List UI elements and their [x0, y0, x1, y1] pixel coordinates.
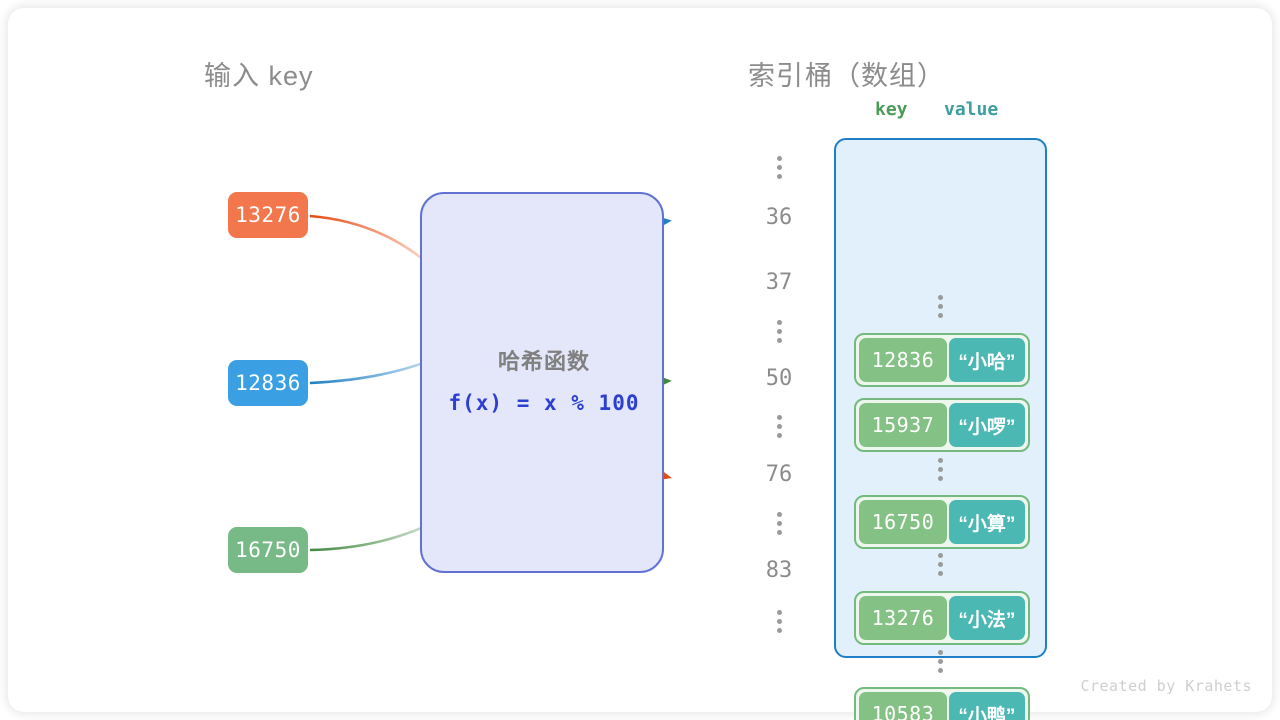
- bucket-ellipsis: [937, 650, 945, 673]
- column-header-key: key: [875, 99, 908, 120]
- bucket-ellipsis: [937, 295, 945, 318]
- bucket-entry-key: 10583: [859, 692, 947, 720]
- index-ellipsis: [775, 610, 783, 633]
- bucket-entry-value: “小啰”: [949, 403, 1025, 447]
- bucket-entry-key: 13276: [859, 596, 947, 640]
- index-ellipsis: [775, 320, 783, 343]
- bucket-ellipsis: [937, 458, 945, 481]
- index-ellipsis: [775, 156, 783, 179]
- bucket-entry-key: 12836: [859, 338, 947, 382]
- bucket-entry-key: 15937: [859, 403, 947, 447]
- index-value: 37: [758, 270, 800, 295]
- index-value: 50: [758, 366, 800, 391]
- bucket-entry-value: “小算”: [949, 500, 1025, 544]
- credit-text: Created by Krahets: [1080, 677, 1252, 695]
- input-key-chip: 13276: [228, 192, 308, 238]
- heading-index: 索引: [748, 54, 804, 93]
- index-ellipsis: [775, 415, 783, 438]
- hash-function-title: 哈希函数: [422, 344, 666, 376]
- bucket-entry-value: “小哈”: [949, 338, 1025, 382]
- index-value: 83: [758, 558, 800, 583]
- input-key-chip: 16750: [228, 527, 308, 573]
- hash-function-formula: f(x) = x % 100: [422, 391, 666, 415]
- bucket-entry: 15937“小啰”: [854, 398, 1030, 452]
- bucket-entry: 10583“小鸭”: [854, 687, 1030, 720]
- bucket-entry-value: “小鸭”: [949, 692, 1025, 720]
- heading-input-key: 输入 key: [204, 54, 314, 93]
- bucket-entry: 13276“小法”: [854, 591, 1030, 645]
- diagram-canvas: 输入 key 索引 桶（数组） key value 13276 12836 16…: [0, 0, 1280, 720]
- index-value: 36: [758, 205, 800, 230]
- column-header-value: value: [944, 99, 998, 120]
- bucket-ellipsis: [937, 553, 945, 576]
- input-key-chip: 12836: [228, 360, 308, 406]
- index-ellipsis: [775, 512, 783, 535]
- bucket-array: 12836“小哈”15937“小啰”16750“小算”13276“小法”1058…: [834, 138, 1047, 658]
- bucket-entry: 16750“小算”: [854, 495, 1030, 549]
- hash-function-box: 哈希函数 f(x) = x % 100: [420, 192, 664, 573]
- index-value: 76: [758, 462, 800, 487]
- bucket-entry-value: “小法”: [949, 596, 1025, 640]
- heading-bucket: 桶（数组）: [805, 54, 945, 93]
- bucket-entry-key: 16750: [859, 500, 947, 544]
- bucket-entry: 12836“小哈”: [854, 333, 1030, 387]
